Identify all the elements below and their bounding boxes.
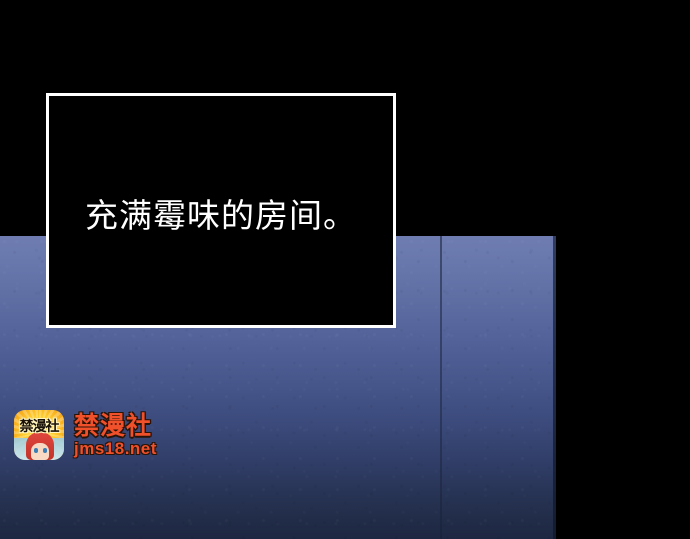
app-icon-label: 禁漫社 — [14, 416, 64, 436]
watermark-brand: 禁漫社 — [74, 414, 157, 439]
watermark: 禁漫社 禁漫社 jms18.net — [14, 410, 157, 460]
app-icon: 禁漫社 — [14, 410, 64, 460]
character-eye-left — [34, 448, 38, 453]
watermark-text-group: 禁漫社 jms18.net — [74, 414, 157, 457]
wall-right-edge — [553, 236, 556, 539]
wall-seam-divider — [440, 236, 442, 539]
narration-box: 充满霉味的房间。 — [46, 93, 396, 328]
narration-text: 充满霉味的房间。 — [85, 195, 357, 240]
watermark-url: jms18.net — [74, 440, 157, 457]
character-eye-right — [43, 448, 47, 453]
comic-panel: 充满霉味的房间。 禁漫社 禁漫社 jms18.net — [0, 0, 690, 539]
